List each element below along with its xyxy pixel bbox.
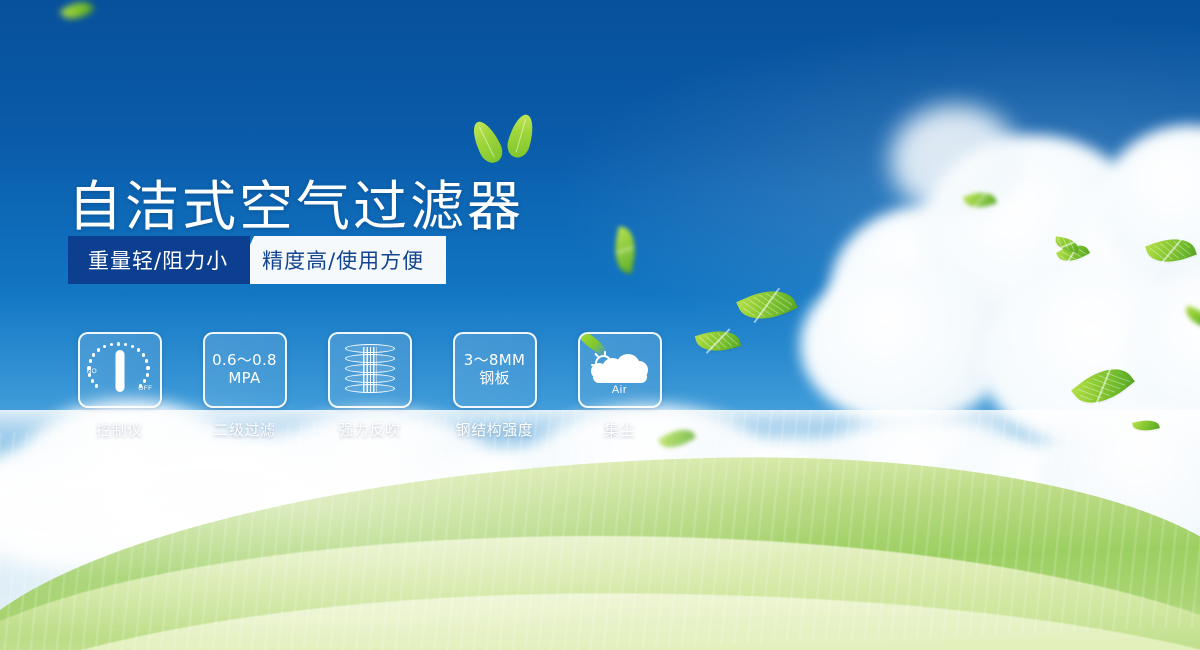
stacked-filter-icon [345, 344, 395, 396]
feature-box-text: 0.6～0.8 MPA [212, 352, 277, 387]
gauge-label-no: NO [87, 368, 98, 375]
feature-icon-box: 3～8MM 钢板 [453, 332, 537, 408]
gauge-dial-icon: NO OFF [87, 341, 153, 399]
feature-box-text-line1: 0.6～0.8 [212, 351, 277, 369]
cloud-air-icon: Air [589, 347, 651, 393]
air-text: Air [589, 384, 651, 396]
feature-item-steel[interactable]: 3～8MM 钢板 钢结构强度 [443, 332, 546, 440]
page-title: 自洁式空气过滤器 [68, 180, 524, 234]
feature-label: 控制仪 [96, 419, 143, 440]
feature-label: 钢结构强度 [455, 419, 533, 440]
feature-icon-box: Air [578, 332, 662, 408]
feature-list: NO OFF 控制仪 0.6～0.8 MPA 二级过滤 [68, 332, 671, 440]
feature-item-filtration[interactable]: 0.6～0.8 MPA 二级过滤 [193, 332, 296, 440]
feature-label: 强力反吹 [338, 419, 400, 440]
ribbon-segment-left: 重量轻/阻力小 [68, 236, 250, 284]
feature-icon-box [328, 332, 412, 408]
feature-box-text-line2: 钢板 [464, 370, 525, 388]
banner-content: 自洁式空气过滤器 重量轻/阻力小 精度高/使用方便 [0, 0, 1200, 650]
feature-item-control[interactable]: NO OFF 控制仪 [68, 332, 171, 440]
feature-item-dust[interactable]: Air 集尘 [568, 332, 671, 440]
ribbon-segment-right: 精度高/使用方便 [232, 236, 446, 284]
sprout-leaves-icon [474, 112, 544, 164]
product-banner: 自洁式空气过滤器 重量轻/阻力小 精度高/使用方便 [0, 0, 1200, 650]
feature-item-blowback[interactable]: 强力反吹 [318, 332, 421, 440]
feature-box-text-line2: MPA [212, 370, 277, 388]
subtitle-ribbon: 重量轻/阻力小 精度高/使用方便 [68, 236, 446, 284]
feature-box-text: 3～8MM 钢板 [464, 352, 525, 387]
feature-icon-box: NO OFF [78, 332, 162, 408]
gauge-needle-icon [115, 350, 124, 392]
feature-box-text-line1: 3～8MM [464, 351, 525, 369]
feature-label: 集尘 [604, 419, 635, 440]
sprout-leaf-left-icon [467, 117, 506, 166]
sprout-leaf-right-icon [504, 112, 537, 160]
feature-icon-box: 0.6～0.8 MPA [203, 332, 287, 408]
gauge-label-off: OFF [138, 385, 152, 392]
feature-label: 二级过滤 [213, 419, 275, 440]
